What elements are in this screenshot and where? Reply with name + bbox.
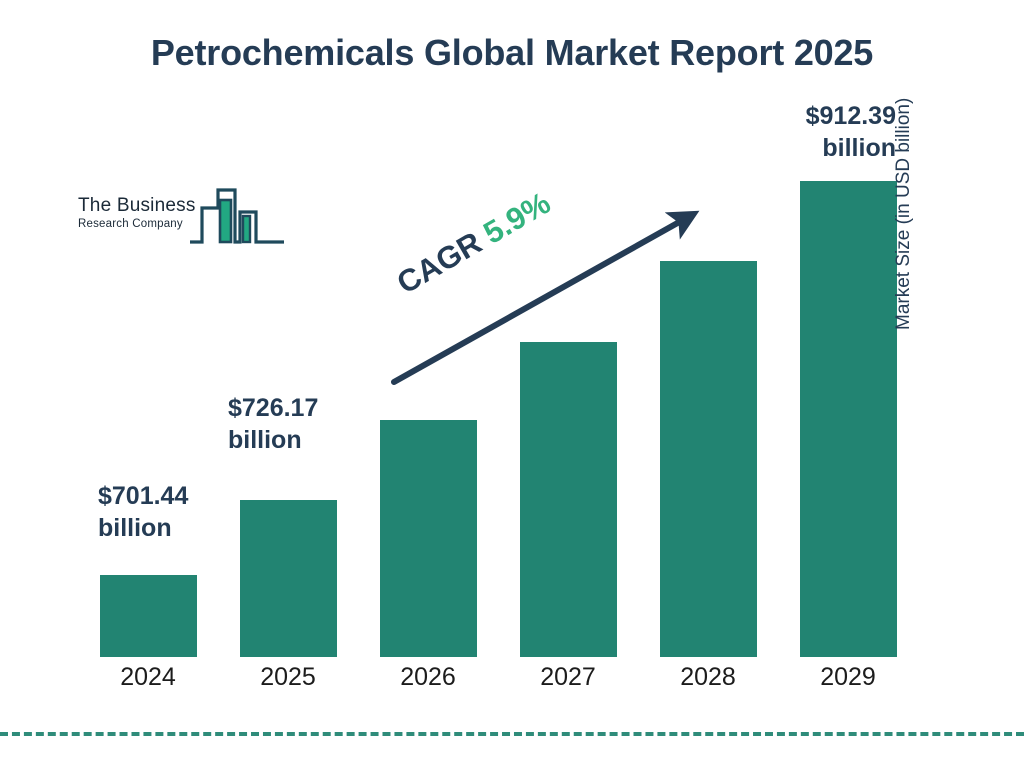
x-tick-2028: 2028 xyxy=(648,663,768,692)
bar-2029 xyxy=(800,181,897,657)
bottom-divider xyxy=(0,732,1024,736)
bar-chart-plot: 2024 2025 2026 2027 2028 2029 $701.44 bi… xyxy=(0,0,1024,768)
value-label-2024-unit: billion xyxy=(98,512,188,544)
bar-2026 xyxy=(380,420,477,657)
value-label-2029: $912.39 billion xyxy=(738,100,896,164)
value-label-2024-amount: $701.44 xyxy=(98,480,188,512)
x-tick-2024: 2024 xyxy=(88,663,208,692)
value-label-2025-amount: $726.17 xyxy=(228,392,318,424)
value-label-2025-unit: billion xyxy=(228,424,318,456)
y-axis-title: Market Size (in USD billion) xyxy=(893,0,915,330)
bar-2024 xyxy=(100,575,197,657)
value-label-2025: $726.17 billion xyxy=(228,392,318,456)
value-label-2024: $701.44 billion xyxy=(98,480,188,544)
x-tick-2026: 2026 xyxy=(368,663,488,692)
chart-page: Petrochemicals Global Market Report 2025… xyxy=(0,0,1024,768)
x-tick-2027: 2027 xyxy=(508,663,628,692)
value-label-2029-unit: billion xyxy=(738,132,896,164)
value-label-2029-amount: $912.39 xyxy=(738,100,896,132)
growth-arrow xyxy=(380,190,720,400)
x-tick-2029: 2029 xyxy=(788,663,908,692)
bar-2025 xyxy=(240,500,337,657)
x-tick-2025: 2025 xyxy=(228,663,348,692)
